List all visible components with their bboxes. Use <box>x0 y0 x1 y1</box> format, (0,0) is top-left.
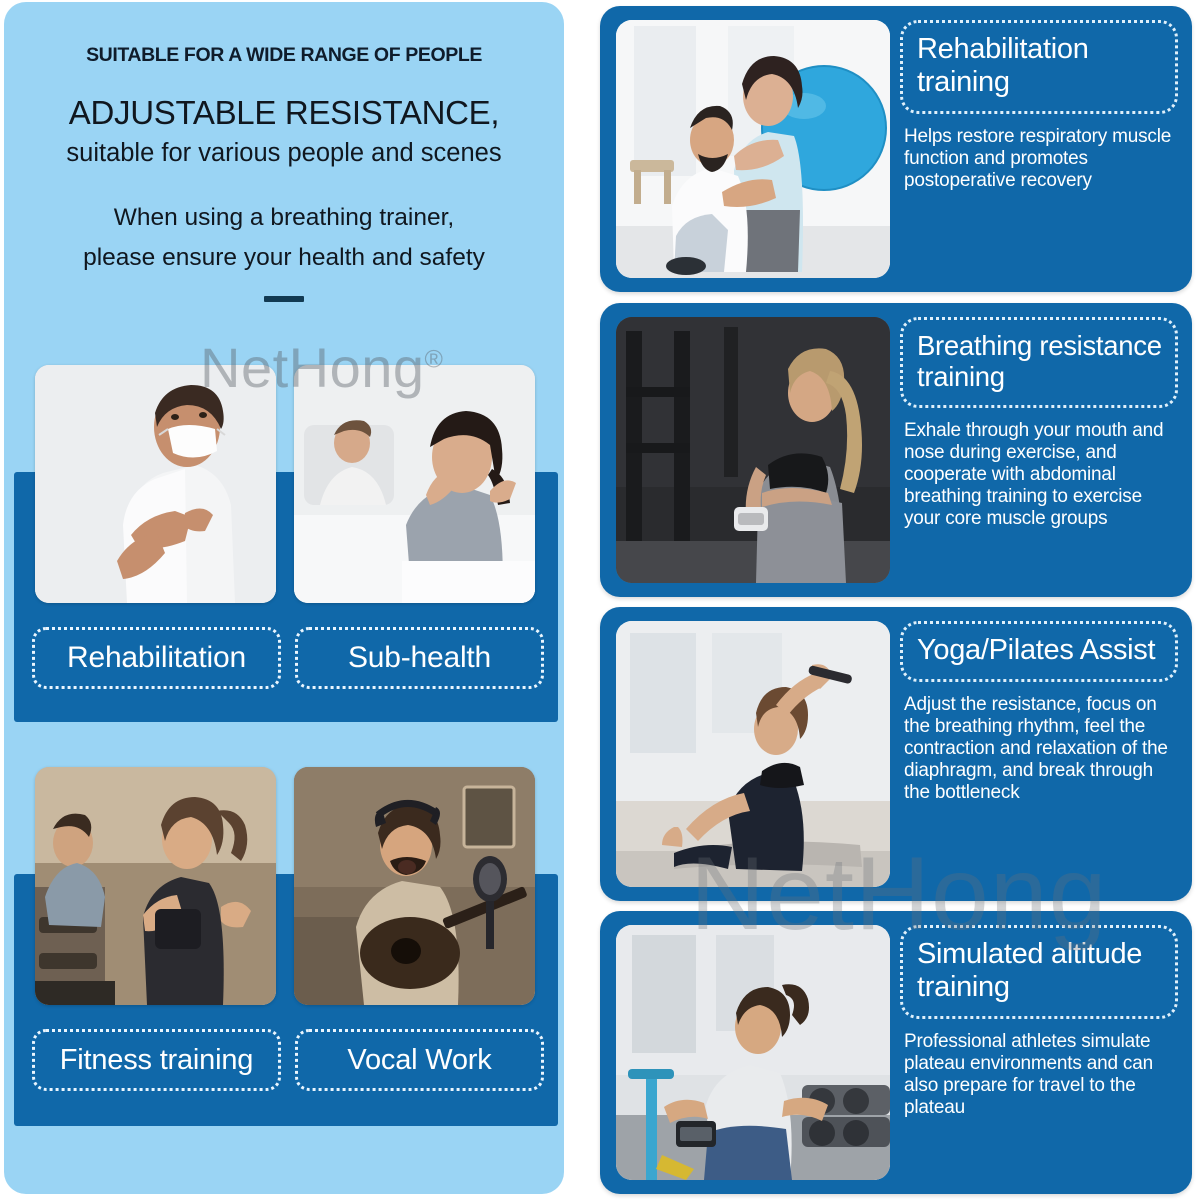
feature-card-simulated-altitude-training[interactable]: Simulated altitude training Professional… <box>600 911 1192 1194</box>
page-subtitle: suitable for various people and scenes <box>34 139 534 168</box>
label-row-upper: Rehabilitation Sub-health <box>32 627 544 689</box>
feature-card-4-title: Simulated altitude training <box>900 925 1178 1019</box>
feature-card-2-description: Exhale through your mouth and nose durin… <box>900 420 1178 530</box>
feature-card-4-body: Simulated altitude training Professional… <box>900 925 1178 1184</box>
left-panel: SUITABLE FOR A WIDE RANGE OF PEOPLE ADJU… <box>4 2 564 1194</box>
usage-note-line-2: please ensure your health and safety <box>34 238 534 278</box>
feature-card-breathing-resistance-training[interactable]: Breathing resistance training Exhale thr… <box>600 303 1192 597</box>
feature-card-rehabilitation-training[interactable]: Rehabilitation training Helps restore re… <box>600 6 1192 292</box>
feature-card-1-body: Rehabilitation training Helps restore re… <box>900 20 1178 282</box>
feature-card-2-title: Breathing resistance training <box>900 317 1178 408</box>
label-row-lower: Fitness training Vocal Work <box>32 1029 544 1091</box>
divider-dash <box>264 296 304 302</box>
feature-card-1-description: Helps restore respiratory muscle functio… <box>900 126 1178 192</box>
photo-row-upper <box>35 365 535 603</box>
label-sub-health[interactable]: Sub-health <box>295 627 544 689</box>
usage-note-line-1: When using a breathing trainer, <box>34 198 534 238</box>
feature-card-2-body: Breathing resistance training Exhale thr… <box>900 317 1178 587</box>
woman-headache-photo <box>294 365 535 603</box>
feature-card-3-description: Adjust the resistance, focus on the brea… <box>900 694 1178 804</box>
eyebrow-heading: SUITABLE FOR A WIDE RANGE OF PEOPLE <box>34 44 534 67</box>
page-title: ADJUSTABLE RESISTANCE, <box>34 95 534 132</box>
label-fitness-training[interactable]: Fitness training <box>32 1029 281 1091</box>
woman-yoga-stretch-pose-photo <box>616 621 890 887</box>
feature-card-yoga-pilates-assist[interactable]: Yoga/Pilates Assist Adjust the resistanc… <box>600 607 1192 901</box>
usage-note: When using a breathing trainer, please e… <box>34 198 534 277</box>
photo-row-lower <box>35 767 535 1005</box>
intro-text-block: SUITABLE FOR A WIDE RANGE OF PEOPLE ADJU… <box>4 2 564 302</box>
man-chest-pain-mask-photo <box>35 365 276 603</box>
label-rehabilitation[interactable]: Rehabilitation <box>32 627 281 689</box>
woman-running-treadmill-gym-photo <box>35 767 276 1005</box>
woman-spin-bike-gym-photo <box>616 925 890 1180</box>
right-panel: Rehabilitation training Helps restore re… <box>598 0 1196 1200</box>
feature-card-4-description: Professional athletes simulate plateau e… <box>900 1031 1178 1119</box>
physiotherapist-exercise-ball-photo <box>616 20 890 278</box>
feature-card-3-body: Yoga/Pilates Assist Adjust the resistanc… <box>900 621 1178 891</box>
man-singing-guitar-microphone-photo <box>294 767 535 1005</box>
woman-weight-training-gym-photo <box>616 317 890 583</box>
label-vocal-work[interactable]: Vocal Work <box>295 1029 544 1091</box>
infographic-stage: SUITABLE FOR A WIDE RANGE OF PEOPLE ADJU… <box>0 0 1200 1200</box>
feature-card-1-title: Rehabilitation training <box>900 20 1178 114</box>
feature-card-3-title: Yoga/Pilates Assist <box>900 621 1178 682</box>
